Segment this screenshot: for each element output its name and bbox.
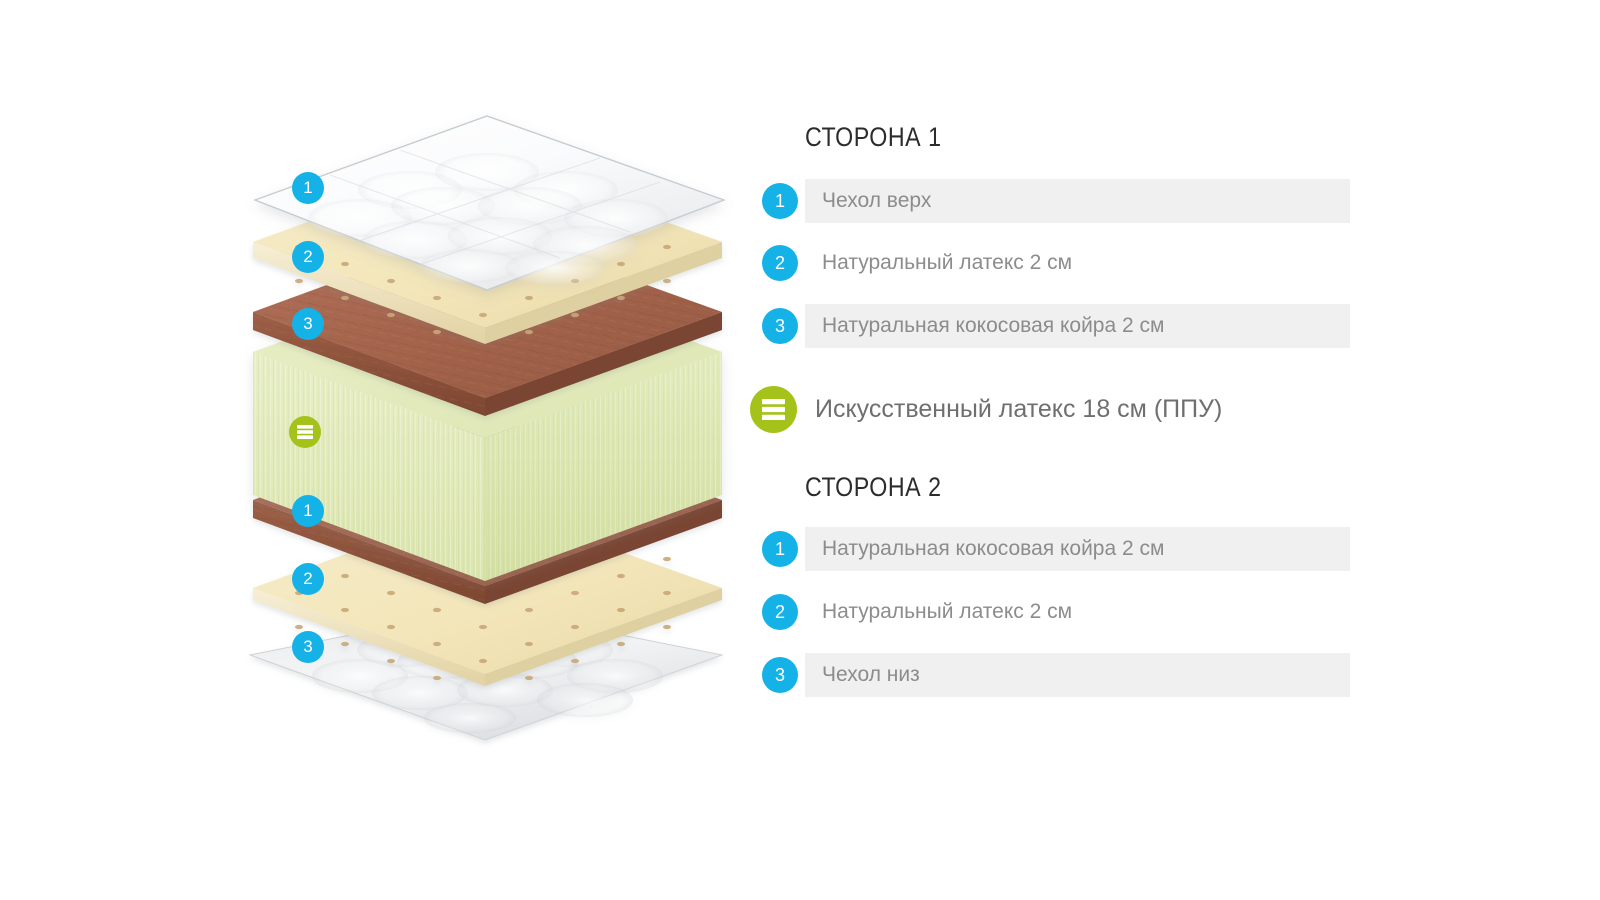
layers-stack-icon bbox=[289, 416, 321, 448]
layers-legend-panel: СТОРОНА 1 1 Чехол верх 2 Натуральный лат… bbox=[750, 0, 1600, 900]
row-label: Чехол верх bbox=[822, 179, 931, 223]
ill-badge-1: 1 bbox=[292, 172, 324, 204]
core-layer-label: Искусственный латекс 18 см (ППУ) bbox=[815, 386, 1222, 433]
layer-diagram-page: 1 2 3 1 2 3 СТОРОНА 1 1 Чехол верх 2 Нат… bbox=[0, 0, 1600, 900]
row-label: Чехол низ bbox=[822, 653, 920, 697]
legend-row-side1-2[interactable]: 2 Натуральный латекс 2 см bbox=[750, 241, 1350, 285]
ill-badge-3: 3 bbox=[292, 308, 324, 340]
side-2-title: СТОРОНА 2 bbox=[805, 472, 942, 503]
row-number-badge: 2 bbox=[762, 594, 798, 630]
ill-badge-2: 2 bbox=[292, 241, 324, 273]
row-label: Натуральный латекс 2 см bbox=[822, 590, 1072, 634]
row-number-badge: 1 bbox=[762, 531, 798, 567]
legend-row-side2-1[interactable]: 1 Натуральная кокосовая койра 2 см bbox=[750, 527, 1350, 571]
row-number-badge: 3 bbox=[762, 657, 798, 693]
row-label: Натуральная кокосовая койра 2 см bbox=[822, 527, 1164, 571]
side-1-title: СТОРОНА 1 bbox=[805, 122, 942, 153]
legend-row-side1-3[interactable]: 3 Натуральная кокосовая койра 2 см bbox=[750, 304, 1350, 348]
ill-badge-4: 1 bbox=[292, 495, 324, 527]
layers-stack-icon bbox=[750, 386, 797, 433]
legend-row-side2-3[interactable]: 3 Чехол низ bbox=[750, 653, 1350, 697]
legend-row-side1-1[interactable]: 1 Чехол верх bbox=[750, 179, 1350, 223]
row-number-badge: 2 bbox=[762, 245, 798, 281]
ill-badge-6: 3 bbox=[292, 631, 324, 663]
row-number-badge: 3 bbox=[762, 308, 798, 344]
ill-badge-core-layers-icon bbox=[289, 416, 321, 448]
row-label: Натуральная кокосовая койра 2 см bbox=[822, 304, 1164, 348]
row-number-badge: 1 bbox=[762, 183, 798, 219]
row-label: Натуральный латекс 2 см bbox=[822, 241, 1072, 285]
layers-svg bbox=[0, 0, 760, 900]
legend-row-side2-2[interactable]: 2 Натуральный латекс 2 см bbox=[750, 590, 1350, 634]
mattress-layers-illustration: 1 2 3 1 2 3 bbox=[0, 0, 760, 900]
ill-badge-5: 2 bbox=[292, 563, 324, 595]
core-layers-badge bbox=[750, 386, 797, 433]
